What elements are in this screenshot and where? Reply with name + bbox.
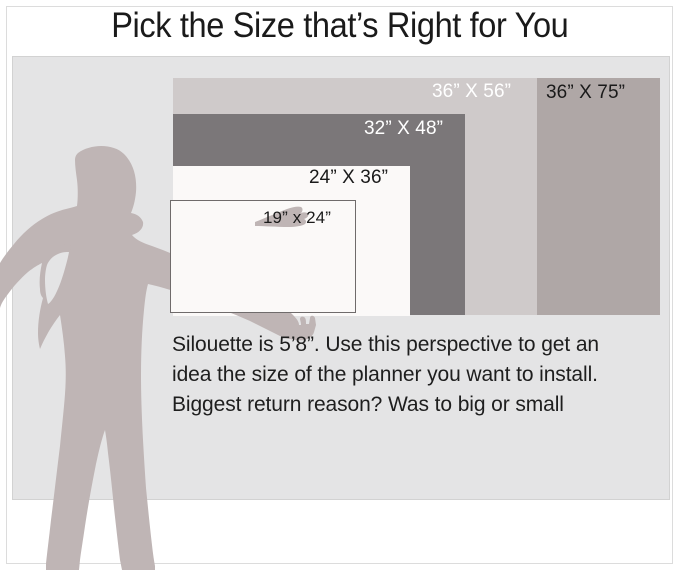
- title-bar: Pick the Size that’s Right for You: [0, 0, 679, 52]
- caption-line-2: idea the size of the planner you want to…: [172, 360, 667, 390]
- size-label-36x75: 36” X 75”: [546, 82, 625, 104]
- size-rect-36x75[interactable]: [537, 78, 660, 315]
- caption-line-1: Silouette is 5’8”. Use this perspective …: [172, 330, 667, 360]
- page-title: Pick the Size that’s Right for You: [111, 6, 568, 46]
- size-label-19x24: 19” x 24”: [263, 208, 331, 228]
- poster-root: Pick the Size that’s Right for You 36” X…: [0, 0, 679, 570]
- size-label-36x56: 36” X 56”: [432, 81, 511, 103]
- caption-block: Silouette is 5’8”. Use this perspective …: [172, 330, 667, 420]
- size-label-24x36: 24” X 36”: [309, 167, 388, 189]
- caption-line-3: Biggest return reason? Was to big or sma…: [172, 390, 667, 420]
- size-label-32x48: 32” X 48”: [364, 118, 443, 140]
